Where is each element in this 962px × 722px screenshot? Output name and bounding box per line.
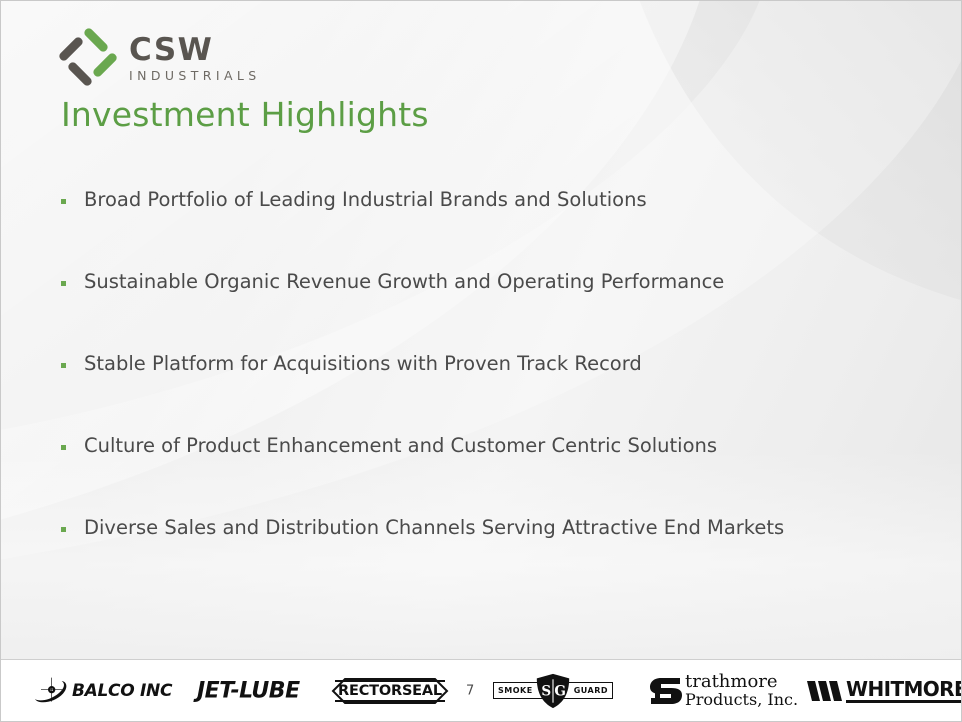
- bullet-text: Sustainable Organic Revenue Growth and O…: [84, 269, 724, 294]
- bullet-dot-icon: [61, 199, 66, 204]
- list-item: Culture of Product Enhancement and Custo…: [61, 433, 921, 515]
- bullet-dot-icon: [61, 363, 66, 368]
- logo-whitmore: WHITMORE: [807, 679, 962, 703]
- list-item: Sustainable Organic Revenue Growth and O…: [61, 269, 921, 351]
- logo-rectorseal: RECTORSEAL: [331, 676, 449, 706]
- rectorseal-wordmark: RECTORSEAL: [335, 680, 445, 702]
- logo-balco: BALCO INC: [31, 676, 172, 706]
- bullet-dot-icon: [61, 281, 66, 286]
- brand-name: CSW: [129, 35, 261, 66]
- bullet-text: Diverse Sales and Distribution Channels …: [84, 515, 784, 540]
- smokeguard-word-left: SMOKE: [498, 686, 533, 695]
- bullet-list: Broad Portfolio of Leading Industrial Br…: [61, 187, 921, 597]
- bullet-text: Broad Portfolio of Leading Industrial Br…: [84, 187, 647, 212]
- list-item: Stable Platform for Acquisitions with Pr…: [61, 351, 921, 433]
- balco-wordmark: BALCO INC: [72, 681, 172, 701]
- jetlube-wordmark: JET-LUBE: [197, 678, 300, 703]
- bullet-dot-icon: [61, 445, 66, 450]
- balco-orbit-icon: [31, 676, 71, 706]
- list-item: Diverse Sales and Distribution Channels …: [61, 515, 921, 597]
- brand-subtitle: INDUSTRIALS: [129, 70, 261, 83]
- page-title: Investment Highlights: [61, 95, 429, 134]
- bullet-text: Stable Platform for Acquisitions with Pr…: [84, 351, 642, 376]
- bullet-dot-icon: [61, 527, 66, 532]
- brand-logo: CSW INDUSTRIALS: [59, 28, 261, 86]
- smokeguard-word-right: GUARD: [574, 686, 608, 695]
- svg-text:G: G: [554, 683, 566, 699]
- page-number: 7: [466, 683, 474, 698]
- bullet-text: Culture of Product Enhancement and Custo…: [84, 433, 717, 458]
- logo-jetlube: JET-LUBE: [197, 678, 300, 703]
- strathmore-s-icon: [649, 673, 683, 709]
- slide-footer: BALCO INC JET-LUBE RECTORSEAL 7: [1, 659, 961, 721]
- list-item: Broad Portfolio of Leading Industrial Br…: [61, 187, 921, 269]
- svg-text:S: S: [541, 683, 551, 699]
- presentation-slide: CSW INDUSTRIALS Investment Highlights Br…: [0, 0, 962, 722]
- brand-wordmark: CSW INDUSTRIALS: [129, 32, 261, 83]
- logo-strathmore: trathmore Products, Inc.: [649, 673, 798, 709]
- smoke-guard-shield-icon: S G: [535, 673, 571, 709]
- strathmore-wordmark-line2: Products, Inc.: [685, 692, 798, 709]
- logo-smokeguard: SMOKE GUARD S G: [493, 673, 613, 709]
- whitmore-bars-icon: [807, 680, 843, 702]
- whitmore-wordmark: WHITMORE: [846, 679, 962, 703]
- csw-diamond-logo-icon: [59, 28, 117, 86]
